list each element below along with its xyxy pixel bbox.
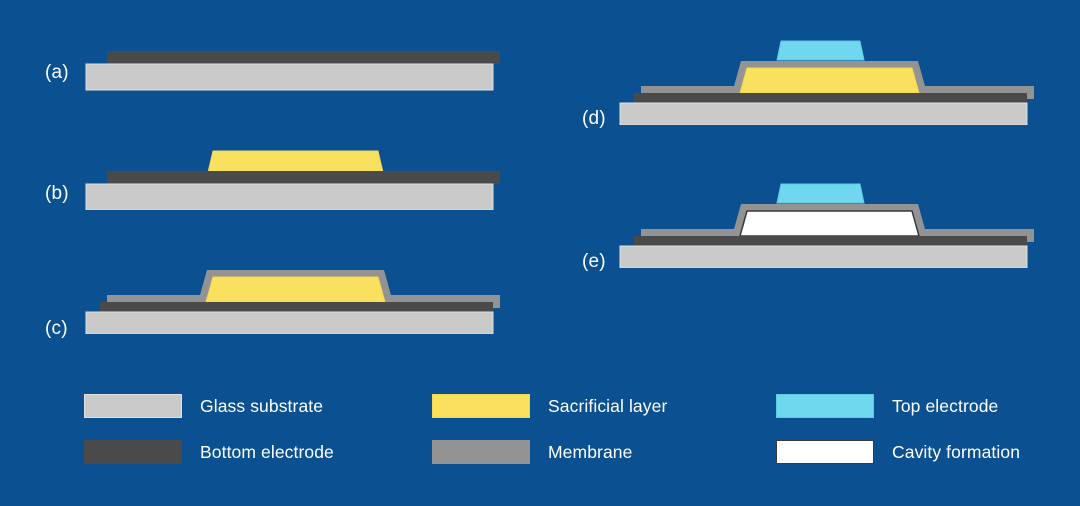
glass-substrate-layer bbox=[86, 312, 493, 334]
legend-item-top-electrode: Top electrode bbox=[776, 394, 998, 418]
panel-label-c: (c) bbox=[45, 318, 68, 340]
glass-substrate-layer bbox=[86, 184, 493, 210]
bottom-electrode-layer bbox=[107, 171, 500, 184]
legend-item-sacrificial-layer: Sacrificial layer bbox=[432, 394, 667, 418]
panel-diagram-a bbox=[80, 40, 500, 100]
panel-diagram-b bbox=[80, 140, 500, 210]
panel-label-a: (a) bbox=[45, 62, 69, 84]
panel-label-b: (b) bbox=[45, 183, 69, 205]
panel-diagram-d bbox=[614, 35, 1034, 125]
legend-item-bottom-electrode: Bottom electrode bbox=[84, 440, 334, 464]
legend-item-membrane: Membrane bbox=[432, 440, 632, 464]
bottom-electrode-layer bbox=[100, 302, 493, 312]
legend-label-top-electrode: Top electrode bbox=[892, 396, 998, 417]
bottom-electrode-layer bbox=[107, 51, 500, 64]
bottom-electrode-layer bbox=[634, 236, 1027, 246]
legend-label-cavity-formation: Cavity formation bbox=[892, 442, 1020, 463]
process-flow-figure: (a)(b)(c)(d)(e)Glass substrateBottom ele… bbox=[0, 0, 1080, 506]
legend: Glass substrateBottom electrodeSacrifici… bbox=[0, 386, 1080, 486]
top-electrode-pad bbox=[777, 184, 864, 203]
legend-swatch-bottom-electrode bbox=[84, 440, 182, 464]
legend-swatch-membrane bbox=[432, 440, 530, 464]
panel-diagram-e bbox=[614, 178, 1034, 268]
bottom-electrode-layer bbox=[634, 93, 1027, 103]
sacrificial-layer-mound bbox=[206, 277, 385, 302]
legend-item-cavity-formation: Cavity formation bbox=[776, 440, 1020, 464]
legend-label-glass-substrate: Glass substrate bbox=[200, 396, 323, 417]
glass-substrate-layer bbox=[620, 103, 1027, 125]
legend-swatch-top-electrode bbox=[776, 394, 874, 418]
legend-label-bottom-electrode: Bottom electrode bbox=[200, 442, 334, 463]
legend-swatch-sacrificial-layer bbox=[432, 394, 530, 418]
cavity-void bbox=[740, 211, 919, 236]
legend-swatch-cavity-formation bbox=[776, 440, 874, 464]
panel-diagram-c bbox=[80, 262, 500, 334]
glass-substrate-layer bbox=[86, 64, 493, 90]
panel-label-d: (d) bbox=[582, 108, 606, 130]
glass-substrate-layer bbox=[620, 246, 1027, 268]
panel-label-e: (e) bbox=[582, 251, 606, 273]
legend-item-glass-substrate: Glass substrate bbox=[84, 394, 323, 418]
top-electrode-pad bbox=[777, 41, 864, 60]
sacrificial-layer-mound bbox=[740, 68, 919, 93]
legend-label-sacrificial-layer: Sacrificial layer bbox=[548, 396, 667, 417]
legend-swatch-glass-substrate bbox=[84, 394, 182, 418]
legend-label-membrane: Membrane bbox=[548, 442, 632, 463]
